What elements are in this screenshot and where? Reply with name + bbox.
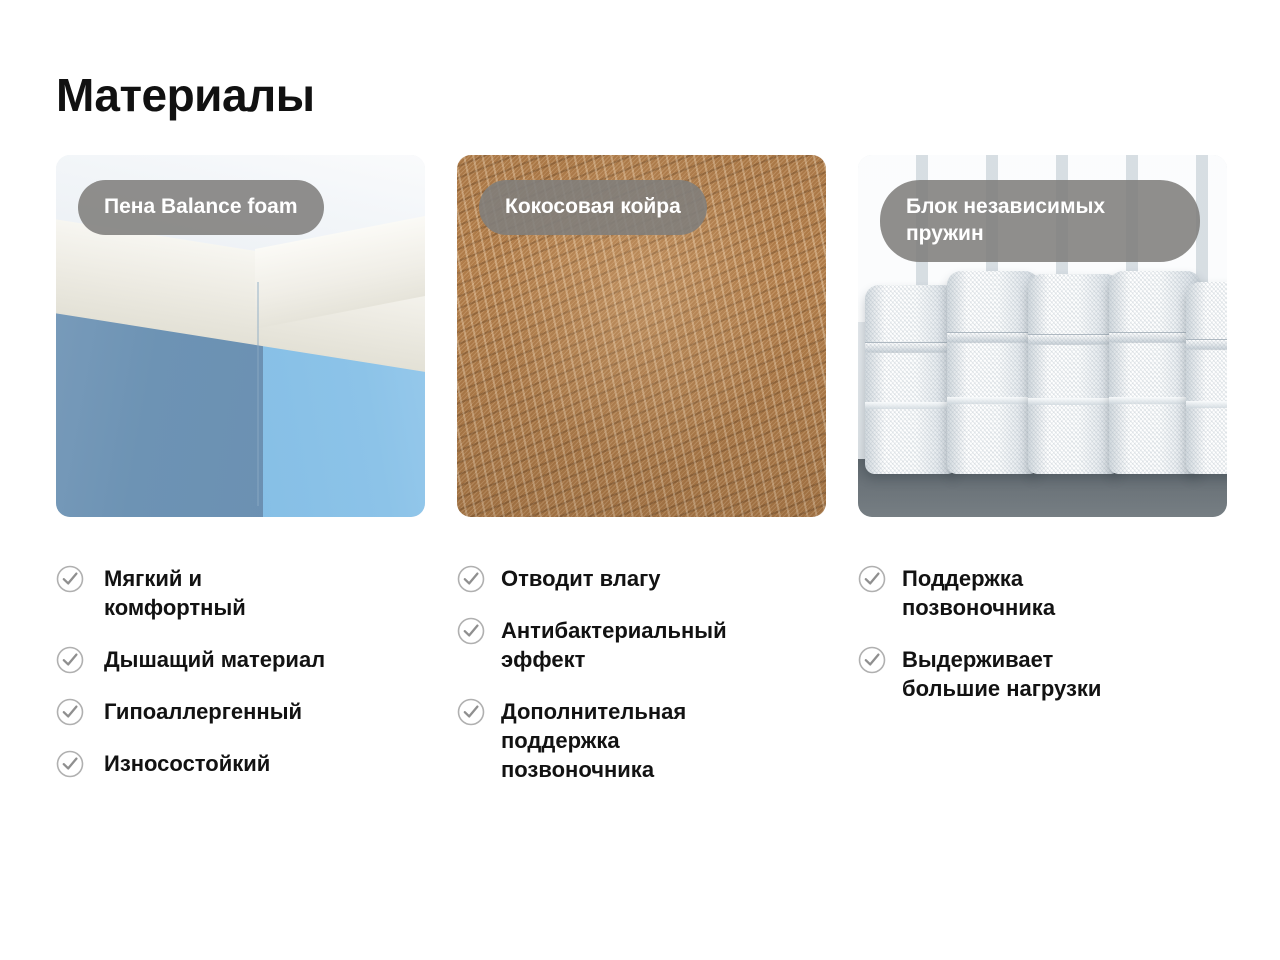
spring-coil bbox=[865, 285, 957, 473]
list-item-label: Дышащий материал bbox=[100, 644, 325, 674]
check-circle-icon bbox=[56, 565, 84, 593]
check-circle-icon bbox=[457, 565, 485, 593]
material-column-foam: Пена Balance foam Мягкий и комфортный bbox=[56, 155, 425, 806]
spring-coil bbox=[1186, 282, 1227, 474]
list-item: Мягкий и комфортный bbox=[56, 563, 425, 622]
material-column-springs: Блок независимых пружин Поддержка позвон… bbox=[858, 155, 1227, 806]
feature-list-coir: Отводит влагу Антибактериальный эффект bbox=[457, 563, 826, 806]
list-item: Износостойкий bbox=[56, 748, 425, 778]
feature-list-foam: Мягкий и комфортный Дышащий материал bbox=[56, 563, 425, 800]
media-card-coir[interactable]: Кокосовая койра bbox=[457, 155, 826, 517]
list-item-label: Дополнительная поддержка позвоночника bbox=[501, 696, 686, 784]
list-item-label: Выдерживает большие нагрузки bbox=[902, 644, 1101, 703]
list-item: Антибактериальный эффект bbox=[457, 615, 826, 674]
check-circle-icon bbox=[858, 646, 886, 674]
check-circle-icon bbox=[858, 565, 886, 593]
spring-coil bbox=[1028, 274, 1120, 473]
page-title: Материалы bbox=[56, 70, 315, 121]
material-badge-springs: Блок независимых пружин bbox=[880, 180, 1200, 262]
list-item: Отводит влагу bbox=[457, 563, 826, 593]
list-item: Дышащий материал bbox=[56, 644, 425, 674]
list-item-label: Мягкий и комфортный bbox=[100, 563, 246, 622]
coil-weave-texture bbox=[1028, 274, 1120, 473]
list-item: Гипоаллергенный bbox=[56, 696, 425, 726]
spring-coil bbox=[947, 271, 1039, 474]
material-badge-coir: Кокосовая койра bbox=[479, 180, 707, 235]
list-item: Выдерживает большие нагрузки bbox=[858, 644, 1227, 703]
check-circle-icon bbox=[56, 750, 84, 778]
check-circle-icon bbox=[56, 646, 84, 674]
materials-slide: Материалы Пена Balance foam bbox=[0, 0, 1280, 960]
materials-columns: Пена Balance foam Мягкий и комфортный bbox=[56, 155, 1228, 806]
list-item-label: Гипоаллергенный bbox=[100, 696, 302, 726]
material-column-coir: Кокосовая койра Отводит влагу bbox=[457, 155, 826, 806]
coil-weave-texture bbox=[1186, 282, 1227, 474]
list-item: Поддержка позвоночника bbox=[858, 563, 1227, 622]
coil-weave-texture bbox=[865, 285, 957, 473]
check-circle-icon bbox=[56, 698, 84, 726]
coil-weave-texture bbox=[947, 271, 1039, 474]
material-badge-foam: Пена Balance foam bbox=[78, 180, 324, 235]
list-item-label: Антибактериальный эффект bbox=[501, 615, 727, 674]
check-circle-icon bbox=[457, 617, 485, 645]
list-item-label: Отводит влагу bbox=[501, 563, 661, 593]
media-card-foam[interactable]: Пена Balance foam bbox=[56, 155, 425, 517]
list-item-label: Износостойкий bbox=[100, 748, 270, 778]
check-circle-icon bbox=[457, 698, 485, 726]
list-item: Дополнительная поддержка позвоночника bbox=[457, 696, 826, 784]
foam-corner-edge bbox=[257, 282, 259, 506]
list-item-label: Поддержка позвоночника bbox=[902, 563, 1055, 622]
media-card-springs[interactable]: Блок независимых пружин bbox=[858, 155, 1227, 517]
feature-list-springs: Поддержка позвоночника Выдерживает больш… bbox=[858, 563, 1227, 725]
